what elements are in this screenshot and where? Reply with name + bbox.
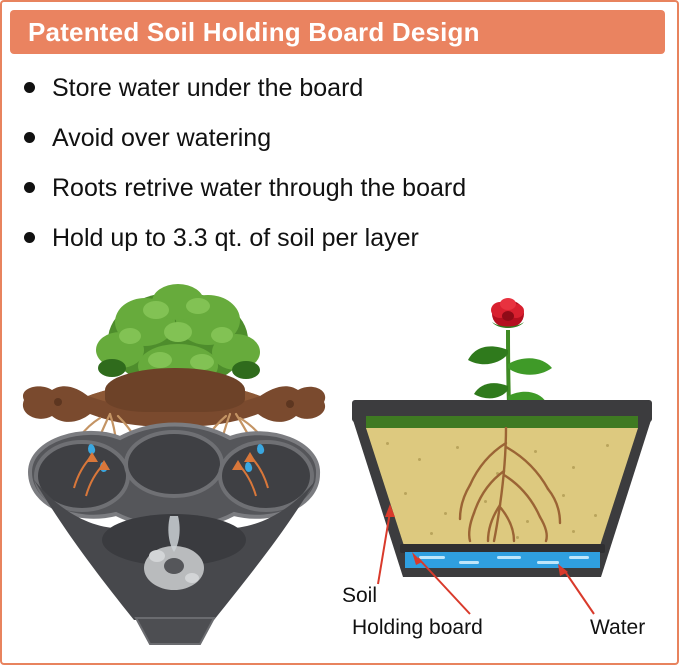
list-item: Roots retrive water through the board (24, 168, 664, 210)
soil-mound (105, 368, 245, 412)
product-infographic: Patented Soil Holding Board Design Store… (0, 0, 679, 665)
page-title: Patented Soil Holding Board Design (28, 17, 480, 48)
bullet-dot-icon (24, 232, 35, 243)
list-item: Avoid over watering (24, 118, 664, 160)
root-direction-arrows (54, 438, 294, 508)
label-leader-lines (342, 272, 677, 665)
stacked-planter-photo (10, 272, 340, 657)
bullet-dot-icon (24, 82, 35, 93)
bullet-dot-icon (24, 182, 35, 193)
feature-bullet-list: Store water under the board Avoid over w… (24, 68, 664, 268)
label-soil: Soil (342, 584, 377, 608)
bullet-text: Hold up to 3.3 qt. of soil per layer (52, 218, 419, 258)
illustration-area: Soil Holding board Water (2, 272, 679, 665)
cross-section-diagram: Soil Holding board Water (342, 272, 677, 665)
list-item: Store water under the board (24, 68, 664, 110)
title-banner: Patented Soil Holding Board Design (10, 10, 665, 54)
list-item: Hold up to 3.3 qt. of soil per layer (24, 218, 664, 260)
label-holding-board: Holding board (352, 616, 483, 640)
bullet-text: Roots retrive water through the board (52, 168, 466, 208)
bullet-text: Store water under the board (52, 68, 363, 108)
bullet-dot-icon (24, 132, 35, 143)
label-water: Water (590, 616, 645, 640)
bullet-text: Avoid over watering (52, 118, 271, 158)
